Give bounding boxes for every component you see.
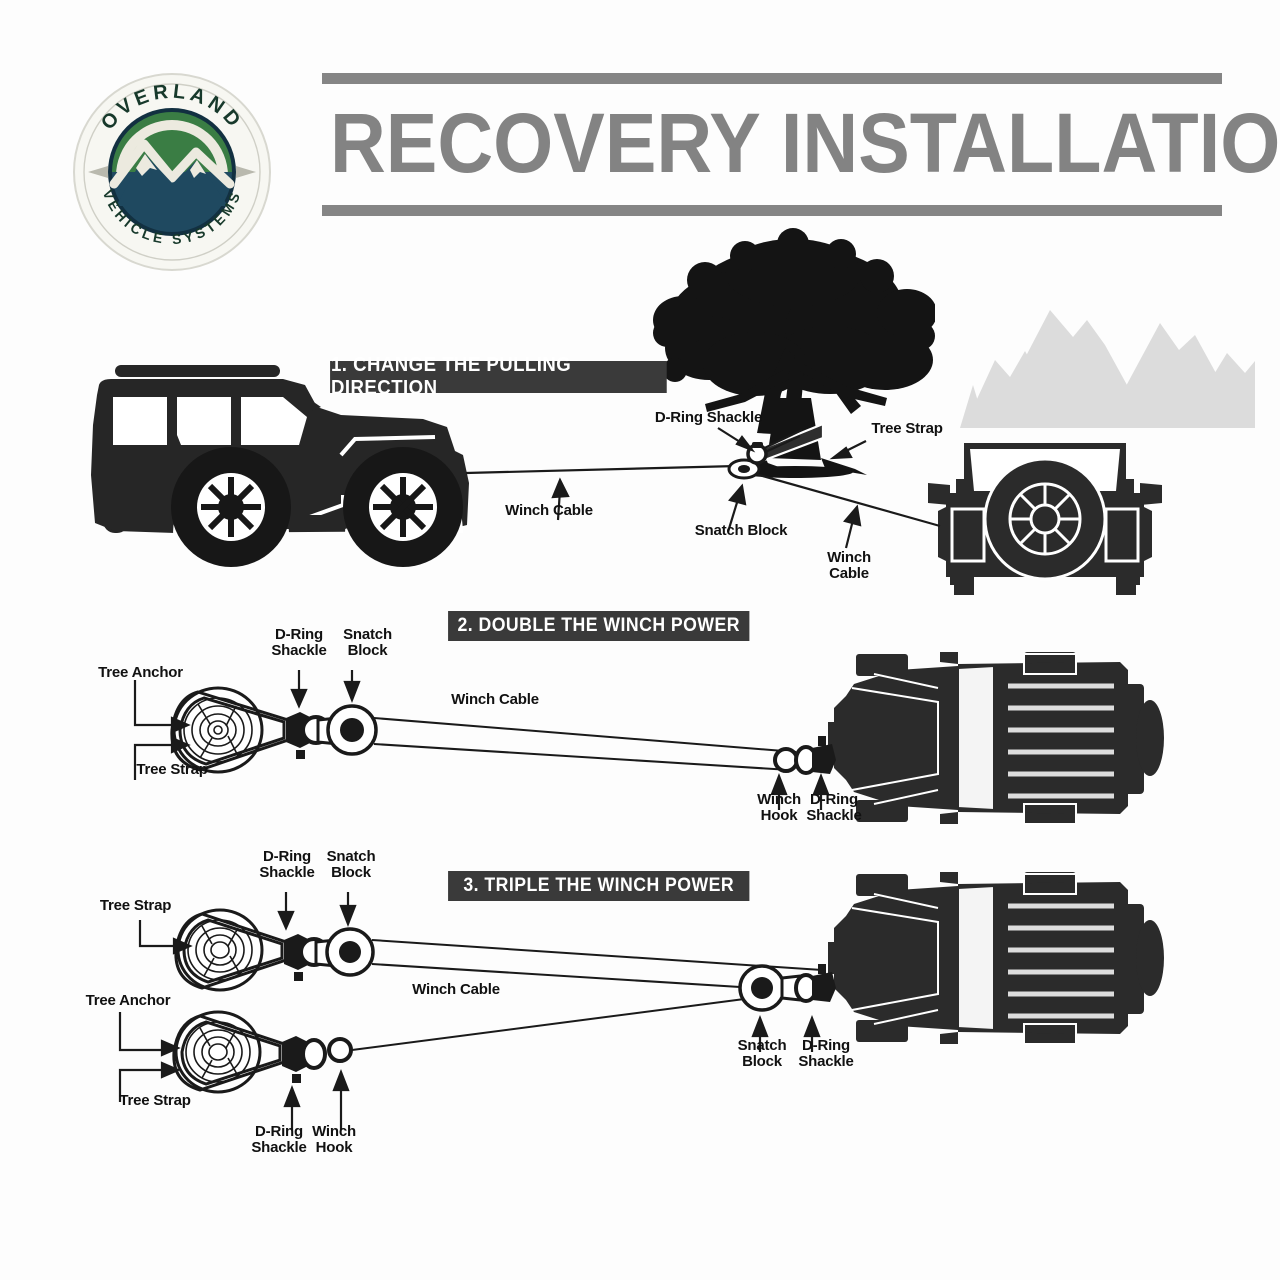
title-rule-bottom [322, 205, 1222, 216]
label-winch-cable-left-s1: Winch Cable [498, 503, 600, 519]
snatch-block-icon-right-s3 [740, 966, 800, 1010]
label-winch-cable-right-s1: Winch Cable [818, 550, 880, 582]
label-tree-anchor-s2: Tree Anchor [88, 665, 193, 681]
infographic-canvas: OVERLAND VEHICLE SYSTEMS RECOVERY INSTAL… [0, 0, 1280, 1280]
label-tree-strap-s2: Tree Strap [126, 762, 218, 778]
winch-hook-icon-s3 [329, 1039, 351, 1061]
section-1-banner-label: 1. CHANGE THE PULLING DIRECTION [331, 354, 666, 400]
label-tree-strap-bottom-s3: Tree Strap [108, 1093, 202, 1109]
label-d-ring-shackle-right-s2: D-Ring Shackle [798, 792, 870, 824]
d-ring-shackle-icon-section1 [748, 442, 766, 463]
label-d-ring-shackle-s1: D-Ring Shackle [646, 410, 771, 426]
d-ring-shackle-icon-s3-bottom [282, 1036, 325, 1083]
page-title: RECOVERY INSTALLATION [330, 88, 1149, 198]
label-winch-cable-s2: Winch Cable [440, 692, 550, 708]
snatch-block-icon-s2 [318, 706, 376, 754]
overland-vehicle-systems-logo: OVERLAND VEHICLE SYSTEMS [72, 72, 272, 272]
winch-hook-icon-s2 [775, 749, 797, 771]
label-snatch-block-s2: Snatch Block [330, 627, 405, 659]
label-snatch-block-s1: Snatch Block [686, 523, 796, 539]
snatch-block-icon-s3-top [316, 929, 373, 975]
title-rule-top [322, 73, 1222, 84]
label-snatch-block-right-s3: Snatch Block [728, 1038, 796, 1070]
label-d-ring-shackle-right-s3: D-Ring Shackle [790, 1038, 862, 1070]
label-tree-strap-top-s3: Tree Strap [88, 898, 183, 914]
label-snatch-block-top-s3: Snatch Block [314, 849, 388, 881]
label-tree-strap-s1: Tree Strap [862, 421, 952, 437]
section3-rigging-diagram [0, 880, 1280, 1180]
section2-rigging-diagram [0, 620, 1280, 850]
label-tree-anchor-s3: Tree Anchor [76, 993, 180, 1009]
label-winch-hook-s3: Winch Hook [303, 1124, 365, 1156]
section-1-banner: 1. CHANGE THE PULLING DIRECTION [331, 362, 666, 392]
label-winch-cable-s3: Winch Cable [403, 982, 509, 998]
d-ring-shackle-icon-right-s2 [796, 736, 836, 774]
